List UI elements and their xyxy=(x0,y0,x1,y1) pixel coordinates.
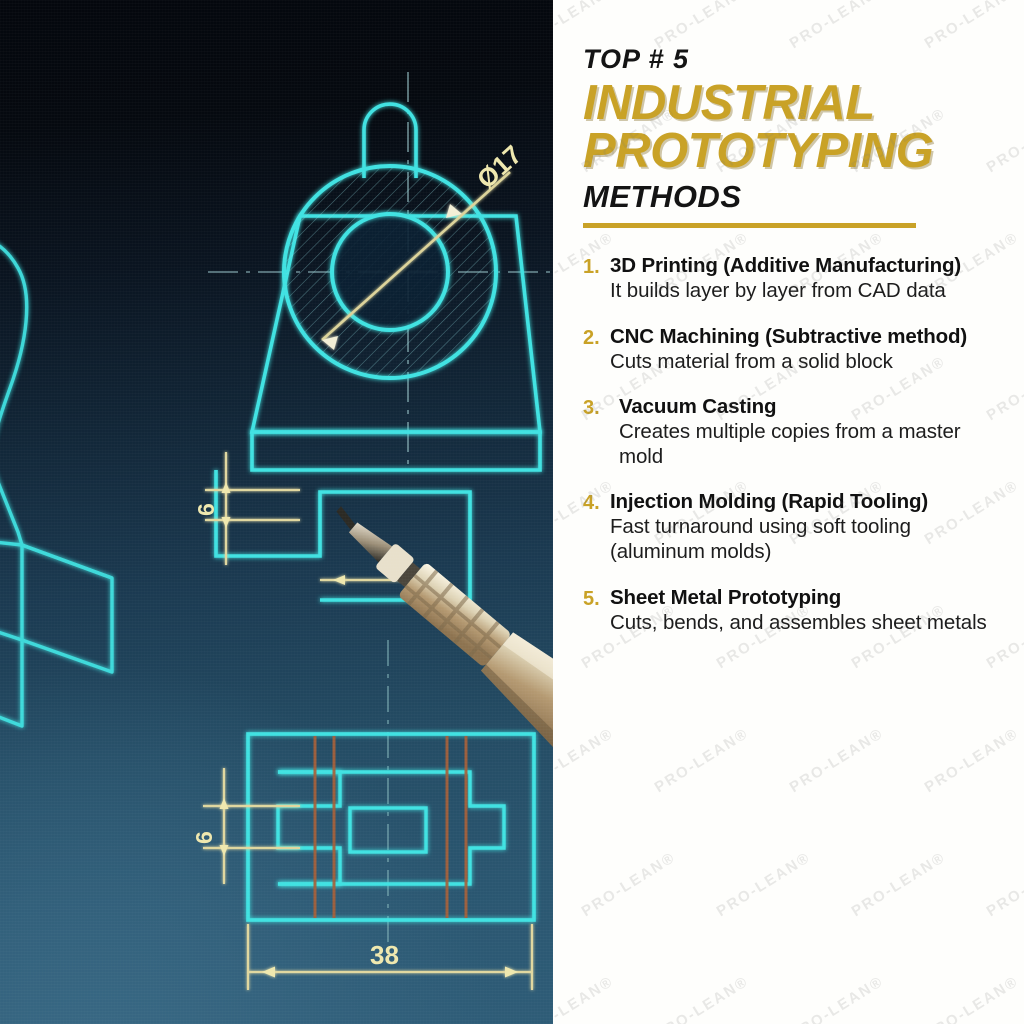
list-item-number: 3. xyxy=(583,395,613,469)
watermark-text: PRO-LEAN® xyxy=(787,0,887,52)
list-item-title: CNC Machining (Subtractive method) xyxy=(610,325,1000,349)
watermark-text: PRO-LEAN® xyxy=(922,0,1022,52)
watermark-text: PRO-LEAN® xyxy=(849,849,949,920)
hatched-boss xyxy=(284,166,496,378)
dimension-label-diameter: Ø17 xyxy=(471,139,528,194)
top-view-inner-profile xyxy=(278,772,504,884)
top-view-plate: 6 38 xyxy=(191,640,534,990)
content-panel: TOP # 5 INDUSTRIAL PROTOTYPING METHODS 1… xyxy=(553,0,1024,1024)
list-item-body: Vacuum Casting Creates multiple copies f… xyxy=(613,395,1000,469)
list-item-title: Vacuum Casting xyxy=(619,395,1000,419)
list-item-title: 3D Printing (Additive Manufacturing) xyxy=(610,254,1000,278)
top-view-left-step xyxy=(278,772,340,884)
list-item-title: Sheet Metal Prototyping xyxy=(610,586,1000,610)
dimension-label-thickness-front: 6 xyxy=(193,503,219,516)
kicker-text: TOP # 5 xyxy=(583,46,1000,73)
watermark-text: PRO-LEAN® xyxy=(787,973,887,1024)
list-item-number: 1. xyxy=(583,254,610,304)
list-item-body: 3D Printing (Additive Manufacturing) It … xyxy=(610,254,1000,304)
list-item-description: It builds layer by layer from CAD data xyxy=(610,279,1000,304)
list-item-description: Cuts material from a solid block xyxy=(610,350,1000,375)
list-item-description: Cuts, bends, and assembles sheet metals xyxy=(610,611,1000,636)
watermark-text: PRO-LEAN® xyxy=(553,725,617,796)
top-view-outer-rect xyxy=(248,734,534,920)
dimension-label-overall-width: 38 xyxy=(370,940,399,970)
page-title: INDUSTRIAL PROTOTYPING xyxy=(583,79,1000,175)
subheading: METHODS xyxy=(583,179,1000,215)
front-view-bracket: Ø17 xyxy=(208,72,553,470)
list-item-body: Injection Molding (Rapid Tooling) Fast t… xyxy=(610,490,1000,564)
list-item-number: 5. xyxy=(583,586,610,636)
title-divider xyxy=(583,223,916,228)
list-item: 5. Sheet Metal Prototyping Cuts, bends, … xyxy=(583,586,1000,636)
list-item-title: Injection Molding (Rapid Tooling) xyxy=(610,490,1000,514)
watermark-text: PRO-LEAN® xyxy=(553,973,617,1024)
watermark-text: PRO-LEAN® xyxy=(652,973,752,1024)
list-item-body: Sheet Metal Prototyping Cuts, bends, and… xyxy=(610,586,1000,636)
list-item: 4. Injection Molding (Rapid Tooling) Fas… xyxy=(583,490,1000,564)
watermark-text: PRO-LEAN® xyxy=(787,725,887,796)
watermark-text: PRO-LEAN® xyxy=(714,849,814,920)
list-item: 3. Vacuum Casting Creates multiple copie… xyxy=(583,395,1000,469)
base-plate xyxy=(252,432,540,470)
methods-list: 1. 3D Printing (Additive Manufacturing) … xyxy=(583,254,1000,635)
watermark-text: PRO-LEAN® xyxy=(984,849,1024,920)
stylus-scriber-tool xyxy=(306,482,553,784)
watermark-text: PRO-LEAN® xyxy=(652,725,752,796)
headline-line-1: INDUSTRIAL xyxy=(583,76,875,130)
list-item-number: 2. xyxy=(583,325,610,375)
dimension-thickness-top xyxy=(203,768,300,884)
list-item-body: CNC Machining (Subtractive method) Cuts … xyxy=(610,325,1000,375)
watermark-text: PRO-LEAN® xyxy=(579,849,679,920)
watermark-text: PRO-LEAN® xyxy=(922,725,1022,796)
infographic-poster: Ø17 6 xyxy=(0,0,1024,1024)
list-item-description: Creates multiple copies from a master mo… xyxy=(619,420,1000,469)
isometric-wireframe-view xyxy=(0,238,112,726)
list-item: 1. 3D Printing (Additive Manufacturing) … xyxy=(583,254,1000,304)
cad-drawing-svg: Ø17 6 xyxy=(0,0,553,1024)
list-item: 2. CNC Machining (Subtractive method) Cu… xyxy=(583,325,1000,375)
watermark-text: PRO-LEAN® xyxy=(922,973,1022,1024)
technical-drawing-panel: Ø17 6 xyxy=(0,0,553,1024)
headline-line-2: PROTOTYPING xyxy=(583,127,1000,175)
list-item-description: Fast turnaround using soft tooling (alum… xyxy=(610,515,1000,564)
list-item-number: 4. xyxy=(583,490,610,564)
side-section-view: 6 xyxy=(193,452,553,600)
dimension-label-thickness-top: 6 xyxy=(191,831,217,844)
section-lines xyxy=(315,736,466,918)
